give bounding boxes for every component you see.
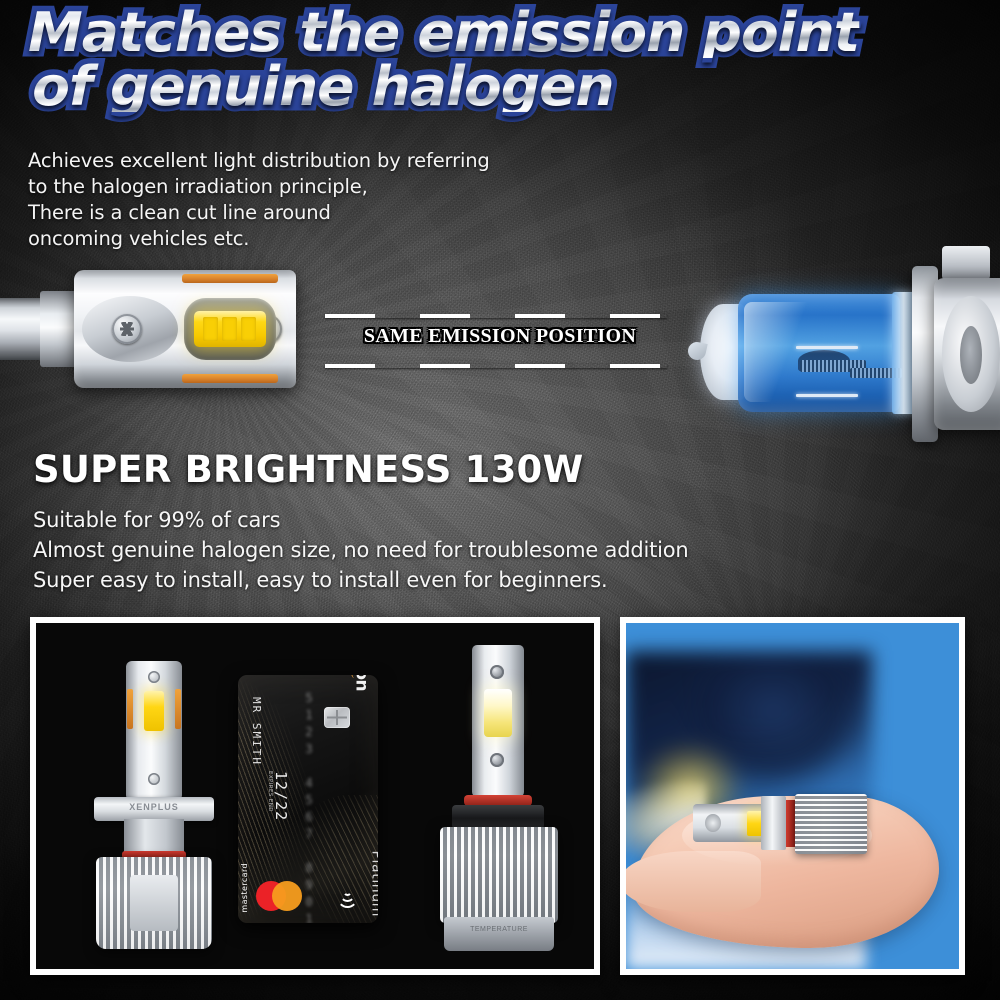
bulb-a-stripe-left (127, 689, 133, 729)
bulb-b-lower-base: TEMPERATURE (444, 917, 554, 951)
bulb-a-neck (124, 819, 184, 853)
brightness-bullet-2: Almost genuine halogen size, no need for… (33, 535, 933, 565)
card-holder-name: MR SMITH (250, 697, 263, 766)
mini-bulb-heatsink (795, 794, 867, 854)
bulb-b-cob-chip (484, 689, 512, 737)
alignment-dash-line-top (325, 314, 667, 318)
mini-bulb-collar (761, 796, 786, 850)
card-number: 5123 4567 8901 2345 (286, 691, 316, 901)
bulb-a-led-chip (144, 691, 164, 731)
torx-screw-icon-left (112, 314, 142, 344)
brightness-bullet-3: Super easy to install, easy to install e… (33, 565, 933, 595)
led-bulb-body (74, 270, 296, 388)
headline-line-2-fill: of genuine halogen (32, 62, 614, 112)
halogen-locking-tab (942, 246, 990, 280)
bulb-a-collar: XENPLUS (94, 797, 214, 821)
emission-position-label: SAME EMISSION POSITION (325, 325, 675, 348)
led-bulb-side-view (0, 260, 320, 405)
size-comparison-photo-panel: XENPLUS 5123 4567 8901 2345 amazon Plati… (30, 617, 600, 975)
mastercard-circle-orange (272, 881, 302, 911)
halogen-glass-envelope (738, 294, 900, 412)
contactless-icon (338, 885, 360, 907)
card-tier-label: Platinum (368, 851, 378, 917)
bulb-a-screw-bottom (148, 773, 160, 785)
bulb-a-stripe-right (175, 689, 181, 729)
intro-line-3: There is a clean cut line around (28, 200, 668, 226)
headline-line-2: of genuine halogen of genuine halogen (32, 62, 977, 116)
emission-comparison: SAME EMISSION POSITION (0, 230, 1000, 460)
halogen-bulb (690, 252, 1000, 452)
card-chip-icon (324, 707, 350, 728)
bulb-b-heatsink (440, 827, 558, 923)
mastercard-wordmark: mastercard (240, 863, 249, 913)
led-emitter-chip (194, 311, 266, 347)
bulb-a-heatsink (96, 857, 212, 949)
brightness-bullet-1: Suitable for 99% of cars (33, 505, 933, 535)
led-bulb-in-hand (693, 793, 873, 855)
led-chip-housing (184, 298, 276, 360)
alignment-dash-line-bottom (325, 364, 667, 368)
card-brand-logo: amazon (352, 675, 372, 691)
product-infographic: Matches the emission point Matches the e… (0, 0, 1000, 1000)
mastercard-logo-icon: mastercard (256, 881, 302, 911)
headline-line-1: Matches the emission point Matches the e… (28, 8, 977, 62)
intro-line-1: Achieves excellent light distribution by… (28, 148, 668, 174)
amazon-credit-card: 5123 4567 8901 2345 amazon Platinum MR S… (238, 675, 378, 923)
halogen-lead-wire-top (796, 346, 858, 349)
hand-held-photo-panel (620, 617, 965, 975)
halogen-lead-wire-bottom (796, 394, 858, 397)
page-headline: Matches the emission point Matches the e… (28, 8, 977, 116)
led-bulb-9005-photo: TEMPERATURE (428, 645, 568, 955)
led-bulb-stem (0, 298, 76, 360)
halogen-metal-base (934, 278, 1000, 430)
led-accent-stripe-top (182, 274, 278, 283)
hand-held-photo (626, 623, 959, 969)
size-comparison-photo: XENPLUS 5123 4567 8901 2345 amazon Plati… (36, 623, 594, 969)
mini-bulb-oring (786, 800, 795, 847)
bulb-a-brand-text: XENPLUS (94, 802, 214, 812)
brightness-title: SUPER BRIGHTNESS 130W (33, 448, 584, 491)
bulb-a-screw-top (148, 671, 160, 683)
intro-line-2: to the halogen irradiation principle, (28, 174, 668, 200)
led-bulb-h4-photo: XENPLUS (88, 661, 218, 951)
bulb-b-screw-top (490, 665, 504, 679)
bulb-b-base-collar (452, 805, 544, 829)
card-expiry-date: 12/22 (272, 771, 290, 821)
brightness-bullet-list: Suitable for 99% of cars Almost genuine … (33, 505, 933, 595)
headline-line-1-fill: Matches the emission point (28, 8, 859, 58)
bulb-b-base-text: TEMPERATURE (444, 926, 554, 933)
bulb-b-screw-bottom (490, 753, 504, 767)
led-accent-stripe-bottom (182, 374, 278, 383)
